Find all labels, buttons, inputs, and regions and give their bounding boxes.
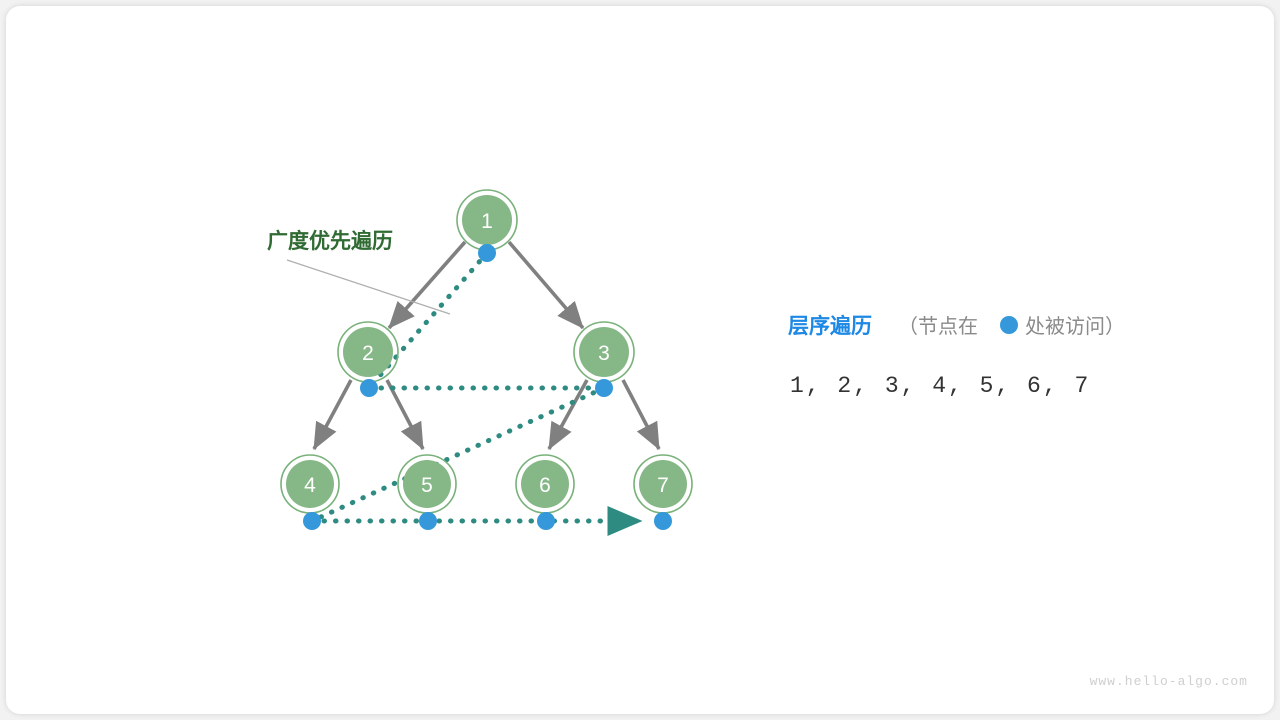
bfs-annotation-label: 广度优先遍历 — [267, 229, 393, 253]
visit-dot-node-5 — [419, 512, 437, 530]
visit-dot-node-7 — [654, 512, 672, 530]
visit-dot-node-1 — [478, 244, 496, 262]
edge-3-7 — [623, 380, 659, 449]
node-label: 2 — [362, 342, 374, 365]
visit-dot-node-6 — [537, 512, 555, 530]
tree-node-4[interactable]: 4 — [281, 455, 339, 513]
bfs-annotation: 广度优先遍历 — [267, 229, 450, 314]
figure-card: 1 2 3 4 — [6, 6, 1274, 714]
visit-dots — [303, 244, 672, 530]
watermark: www.hello-algo.com — [1090, 674, 1248, 689]
tree-node-3[interactable]: 3 — [574, 322, 634, 382]
node-label: 4 — [304, 474, 316, 497]
traversal-sequence: 1, 2, 3, 4, 5, 6, 7 — [790, 373, 1090, 399]
node-label: 6 — [539, 474, 551, 497]
page-background: 1 2 3 4 — [0, 0, 1280, 720]
legend-title: 层序遍历 — [788, 314, 872, 338]
visit-dot-node-2 — [360, 379, 378, 397]
visit-dot-node-3 — [595, 379, 613, 397]
node-label: 3 — [598, 342, 610, 365]
edge-2-4 — [314, 380, 351, 449]
legend-note-before: （节点在 — [898, 315, 978, 338]
visit-dot-node-4 — [303, 512, 321, 530]
edge-1-3 — [509, 242, 583, 328]
edge-1-2 — [389, 242, 465, 328]
tree-node-2[interactable]: 2 — [338, 322, 398, 382]
tree-node-7[interactable]: 7 — [634, 455, 692, 513]
tree-node-5[interactable]: 5 — [398, 455, 456, 513]
legend-note-after: 处被访问） — [1025, 315, 1125, 338]
node-label: 5 — [421, 474, 433, 497]
node-label: 7 — [657, 474, 669, 497]
tree-node-6[interactable]: 6 — [516, 455, 574, 513]
visit-dot-icon — [1000, 316, 1018, 334]
tree-node-1[interactable]: 1 — [457, 190, 517, 250]
node-label: 1 — [481, 210, 493, 233]
bfs-traversal-diagram: 1 2 3 4 — [6, 6, 1274, 714]
legend-panel: 层序遍历 （节点在 处被访问） 1, 2, 3, 4, 5, 6, 7 — [788, 314, 1125, 399]
